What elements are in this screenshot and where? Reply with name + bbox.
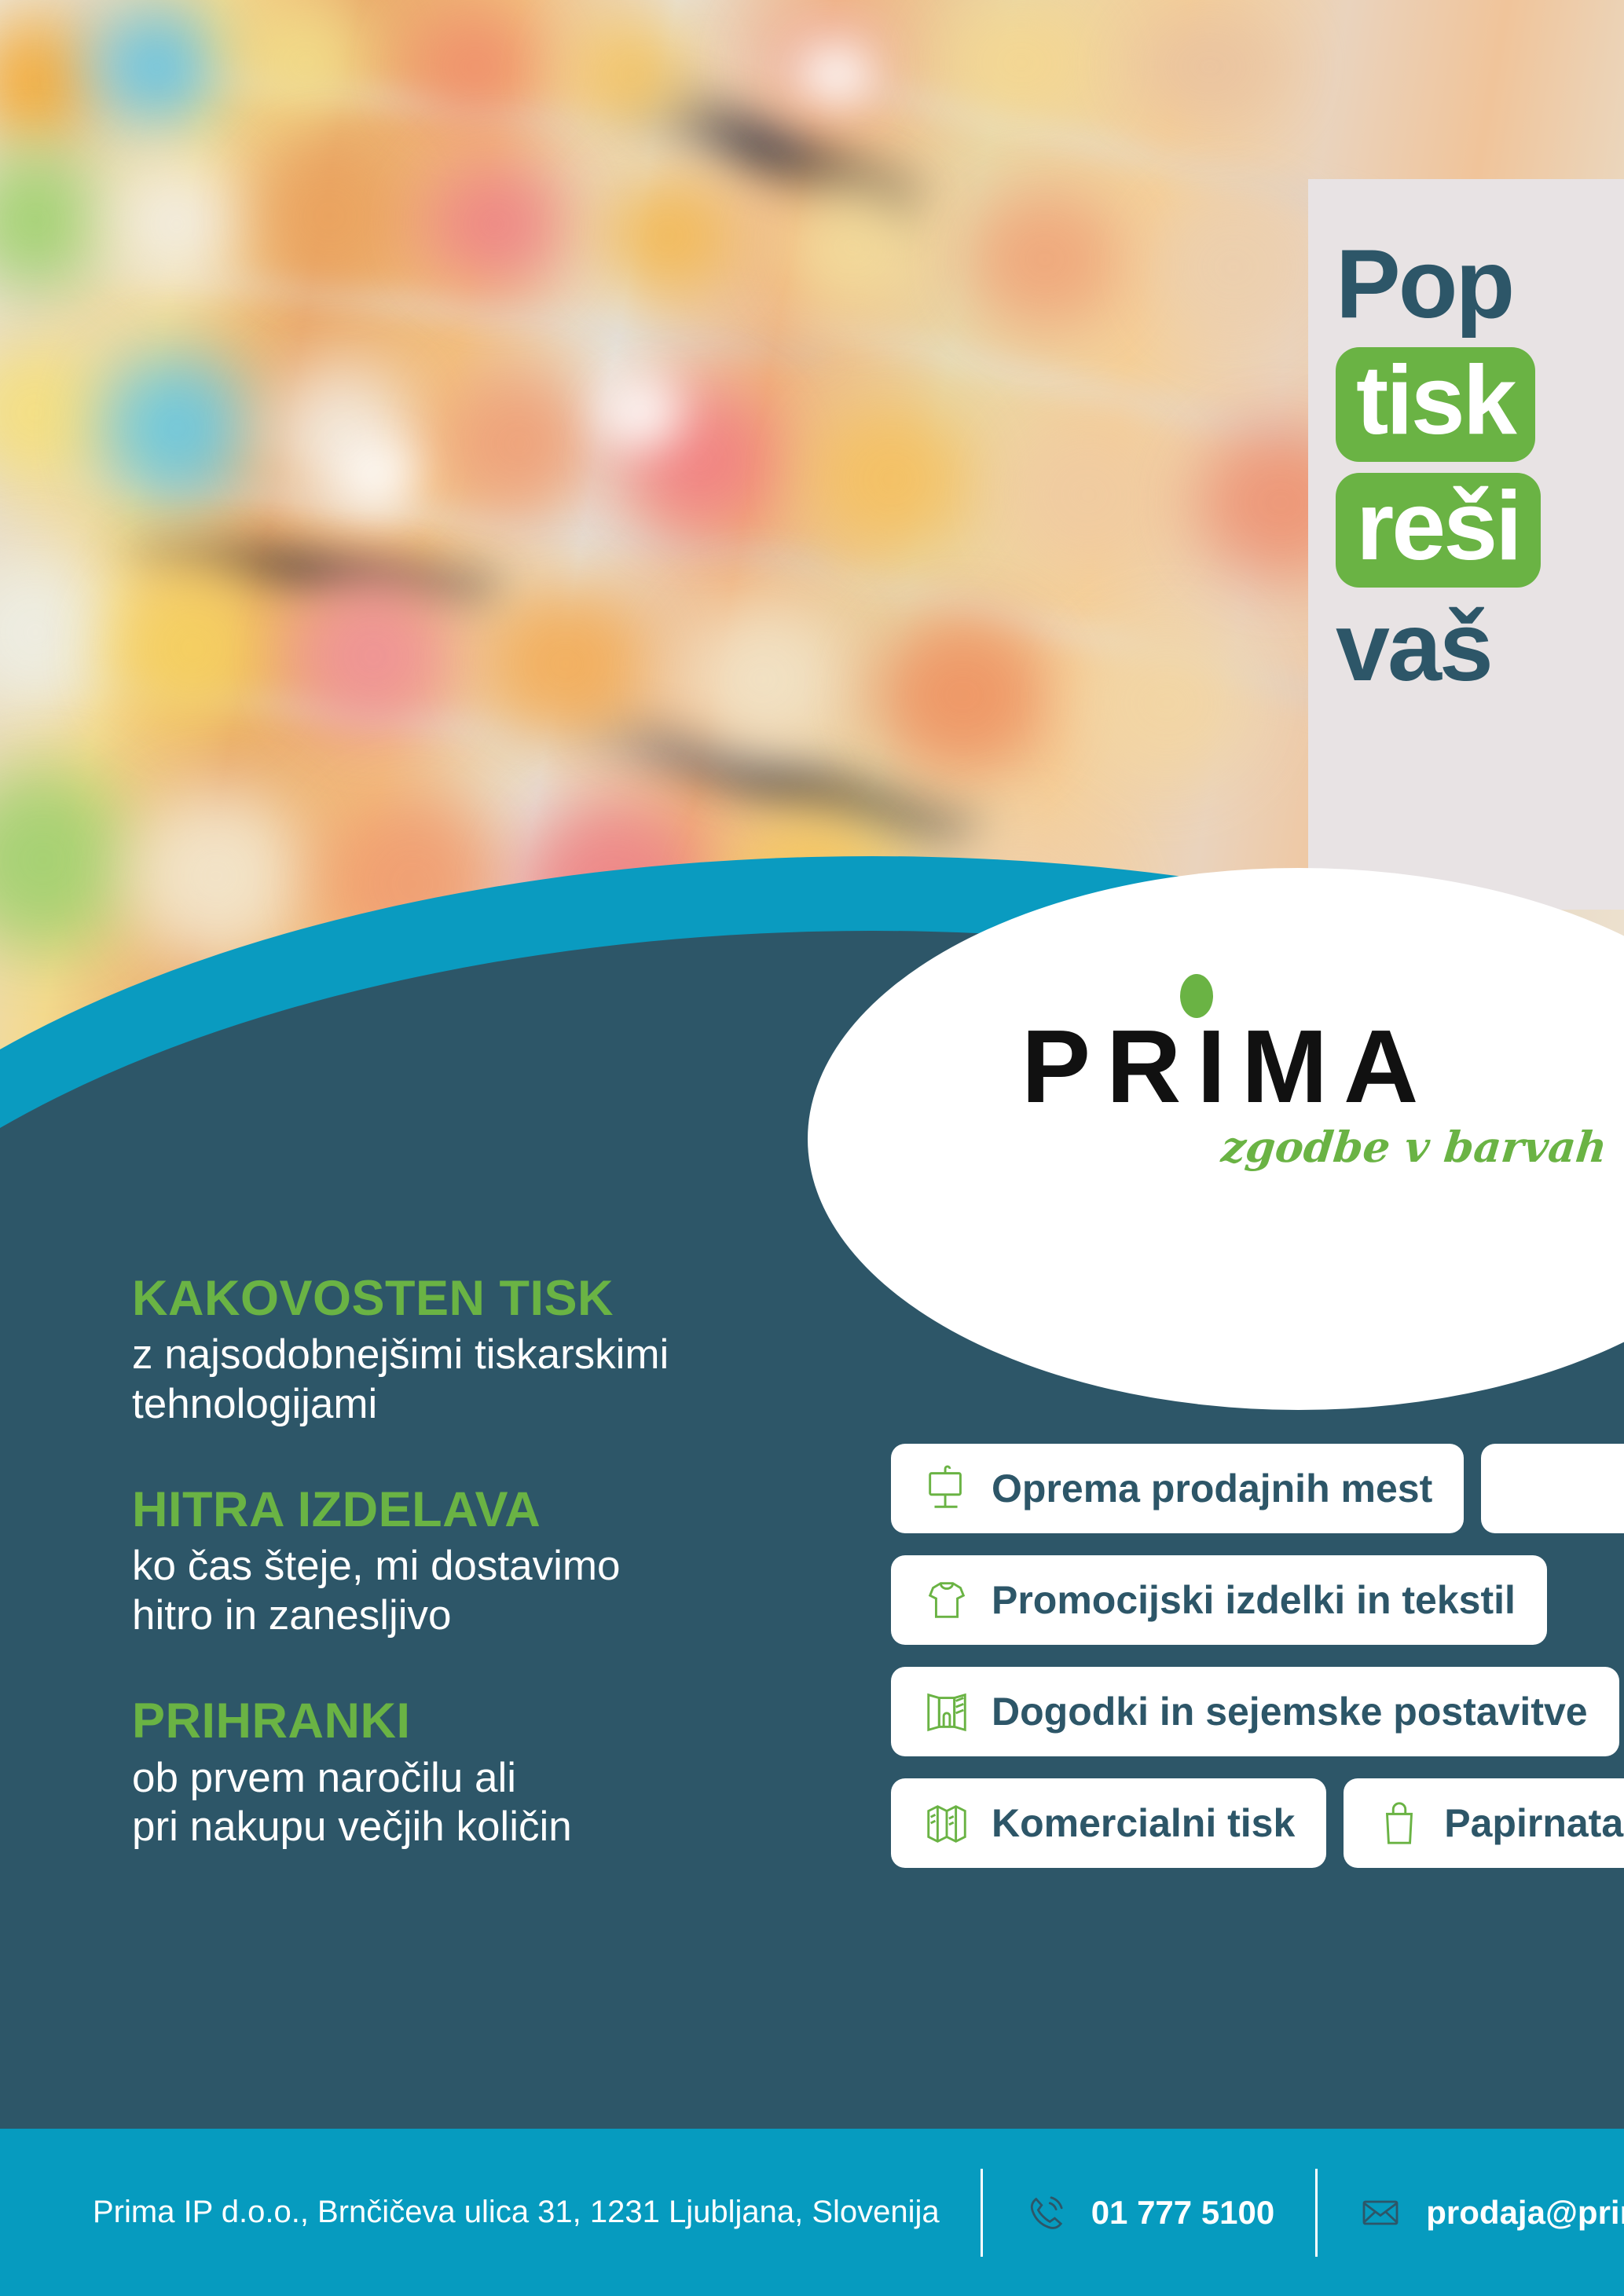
product-blur bbox=[1076, 621, 1257, 785]
logo-wordmark: PRIMA bbox=[1021, 1015, 1619, 1119]
product-blur bbox=[566, 16, 699, 134]
footer-divider bbox=[1315, 2169, 1318, 2257]
brochure-icon bbox=[922, 1799, 971, 1847]
footer-divider bbox=[981, 2169, 983, 2257]
product-blur bbox=[809, 401, 974, 558]
footer-address: Prima IP d.o.o., Brnčičeva ulica 31, 123… bbox=[93, 2195, 940, 2230]
headline-line-1: Pop bbox=[1336, 236, 1624, 333]
chip-oprema-prodajnih-mest[interactable]: Oprema prodajnih mest bbox=[891, 1444, 1464, 1533]
benefit-body-line: tehnologijami bbox=[132, 1380, 823, 1430]
chip-row: Komercialni tisk Papirnata embalaža bbox=[891, 1778, 1624, 1868]
chip-label: Promocijski izdelki in tekstil bbox=[992, 1580, 1516, 1620]
product-blur bbox=[872, 613, 1053, 778]
product-blur bbox=[1006, 416, 1171, 573]
chip-row: Dogodki in sejemske postavitve bbox=[891, 1667, 1624, 1756]
chip-dogodki-in-sejemske-postavitve[interactable]: Dogodki in sejemske postavitve bbox=[891, 1667, 1619, 1756]
product-blur bbox=[479, 581, 652, 746]
benefit-item: HITRA IZDELAVA ko čas šteje, mi dostavim… bbox=[132, 1484, 823, 1640]
benefit-body-line: pri nakupu večjih količin bbox=[132, 1803, 823, 1852]
product-blur bbox=[102, 353, 251, 503]
headline-line-4: vaš bbox=[1336, 599, 1624, 696]
chip-promocijski-izdelki-in-tekstil[interactable]: Promocijski izdelki in tekstil bbox=[891, 1555, 1547, 1645]
pos-display-icon bbox=[922, 1464, 971, 1513]
benefit-title: KAKOVOSTEN TISK bbox=[132, 1273, 823, 1324]
benefit-body-line: ob prvem naročilu ali bbox=[132, 1754, 823, 1803]
headline-line-2: tisk bbox=[1336, 347, 1535, 462]
benefit-item: PRIHRANKI ob prvem naročilu ali pri naku… bbox=[132, 1695, 823, 1851]
chip-komercialni-tisk[interactable]: Komercialni tisk bbox=[891, 1778, 1326, 1868]
product-blur bbox=[259, 149, 401, 283]
product-blur bbox=[597, 169, 739, 302]
chip-row1-overflow[interactable] bbox=[1481, 1444, 1624, 1533]
poster-root: Pop tisk reši vaš PRIMA zgodbe v barvah … bbox=[0, 0, 1624, 2296]
envelope-icon bbox=[1358, 2191, 1402, 2235]
chip-papirnata-embalaza[interactable]: Papirnata embalaža bbox=[1344, 1778, 1624, 1868]
ceiling-light bbox=[338, 440, 416, 511]
benefit-item: KAKOVOSTEN TISK z najsodobnejšimi tiskar… bbox=[132, 1273, 823, 1429]
phone-icon bbox=[1024, 2191, 1068, 2235]
paper-bag-icon bbox=[1375, 1799, 1424, 1847]
product-blur bbox=[1155, 196, 1312, 338]
service-chip-list: Oprema prodajnih mest Promocijski izdelk… bbox=[891, 1444, 1624, 1890]
product-blur bbox=[94, 8, 220, 126]
chip-label: Komercialni tisk bbox=[992, 1803, 1295, 1843]
chip-row: Promocijski izdelki in tekstil bbox=[891, 1555, 1624, 1645]
benefit-body-line: hitro in zanesljivo bbox=[132, 1591, 823, 1641]
footer-bar: Prima IP d.o.o., Brnčičeva ulica 31, 123… bbox=[0, 2129, 1624, 2296]
benefit-title: PRIHRANKI bbox=[132, 1695, 823, 1747]
product-blur bbox=[291, 573, 456, 738]
benefits-list: KAKOVOSTEN TISK z najsodobnejšimi tiskar… bbox=[132, 1273, 823, 1907]
chip-row: Oprema prodajnih mest bbox=[891, 1444, 1624, 1533]
chip-label: Dogodki in sejemske postavitve bbox=[992, 1692, 1588, 1731]
ceiling-light bbox=[801, 47, 872, 102]
product-blur bbox=[440, 369, 597, 518]
exhibition-stand-icon bbox=[922, 1687, 971, 1736]
product-blur bbox=[778, 181, 927, 314]
footer-phone[interactable]: 01 777 5100 bbox=[1024, 2191, 1275, 2235]
footer-email[interactable]: prodaja@prima-ip.si bbox=[1358, 2191, 1624, 2235]
ceiling-light bbox=[597, 377, 684, 448]
product-blur bbox=[943, 0, 1100, 126]
product-blur bbox=[676, 597, 849, 762]
product-blur bbox=[110, 566, 275, 731]
headline-line-3: reši bbox=[1336, 473, 1541, 588]
benefit-title: HITRA IZDELAVA bbox=[132, 1484, 823, 1536]
product-blur bbox=[236, 0, 377, 126]
chip-label: Papirnata embalaža bbox=[1444, 1803, 1624, 1843]
logo-tagline: zgodbe v barvah bbox=[1219, 1122, 1622, 1172]
product-blur bbox=[110, 157, 244, 291]
footer-email-address: prodaja@prima-ip.si bbox=[1426, 2194, 1624, 2232]
tshirt-icon bbox=[922, 1576, 971, 1624]
green-dot-icon bbox=[1180, 974, 1213, 1018]
product-blur bbox=[409, 8, 542, 126]
headline: Pop tisk reši vaš bbox=[1336, 236, 1624, 710]
product-blur bbox=[1131, 8, 1289, 126]
benefit-body-line: z najsodobnejšimi tiskarskimi bbox=[132, 1331, 823, 1380]
benefit-body-line: ko čas šteje, mi dostavimo bbox=[132, 1542, 823, 1591]
prima-logo: PRIMA zgodbe v barvah bbox=[1021, 1015, 1619, 1188]
footer-phone-number: 01 777 5100 bbox=[1091, 2194, 1275, 2232]
product-blur bbox=[966, 189, 1124, 330]
chip-label: Oprema prodajnih mest bbox=[992, 1469, 1432, 1508]
product-blur bbox=[424, 157, 566, 291]
